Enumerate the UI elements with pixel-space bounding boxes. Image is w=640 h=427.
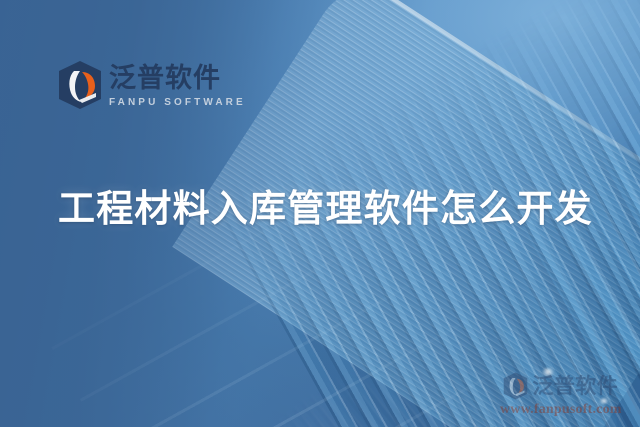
watermark-brand-name: 泛普软件 [532, 373, 618, 399]
watermark-url: www.fanpusoft.com [500, 401, 622, 418]
banner-headline: 工程材料入库管理软件怎么开发 [58, 186, 618, 232]
watermark: 泛普软件 www.fanpusoft.com [500, 372, 622, 418]
brand-name-cn: 泛普软件 [109, 62, 246, 96]
brand-logo: 泛普软件 FANPU SOFTWARE [58, 60, 246, 110]
brand-name-en: FANPU SOFTWARE [109, 96, 246, 110]
fanpu-watermark-mark-icon [503, 372, 528, 400]
fanpu-logo-mark-icon [58, 60, 102, 110]
brand-logo-wordmark: 泛普软件 FANPU SOFTWARE [109, 60, 246, 110]
watermark-logo-row: 泛普软件 [503, 372, 618, 400]
banner-image: 泛普软件 FANPU SOFTWARE 工程材料入库管理软件怎么开发 泛普软件 … [0, 0, 640, 427]
